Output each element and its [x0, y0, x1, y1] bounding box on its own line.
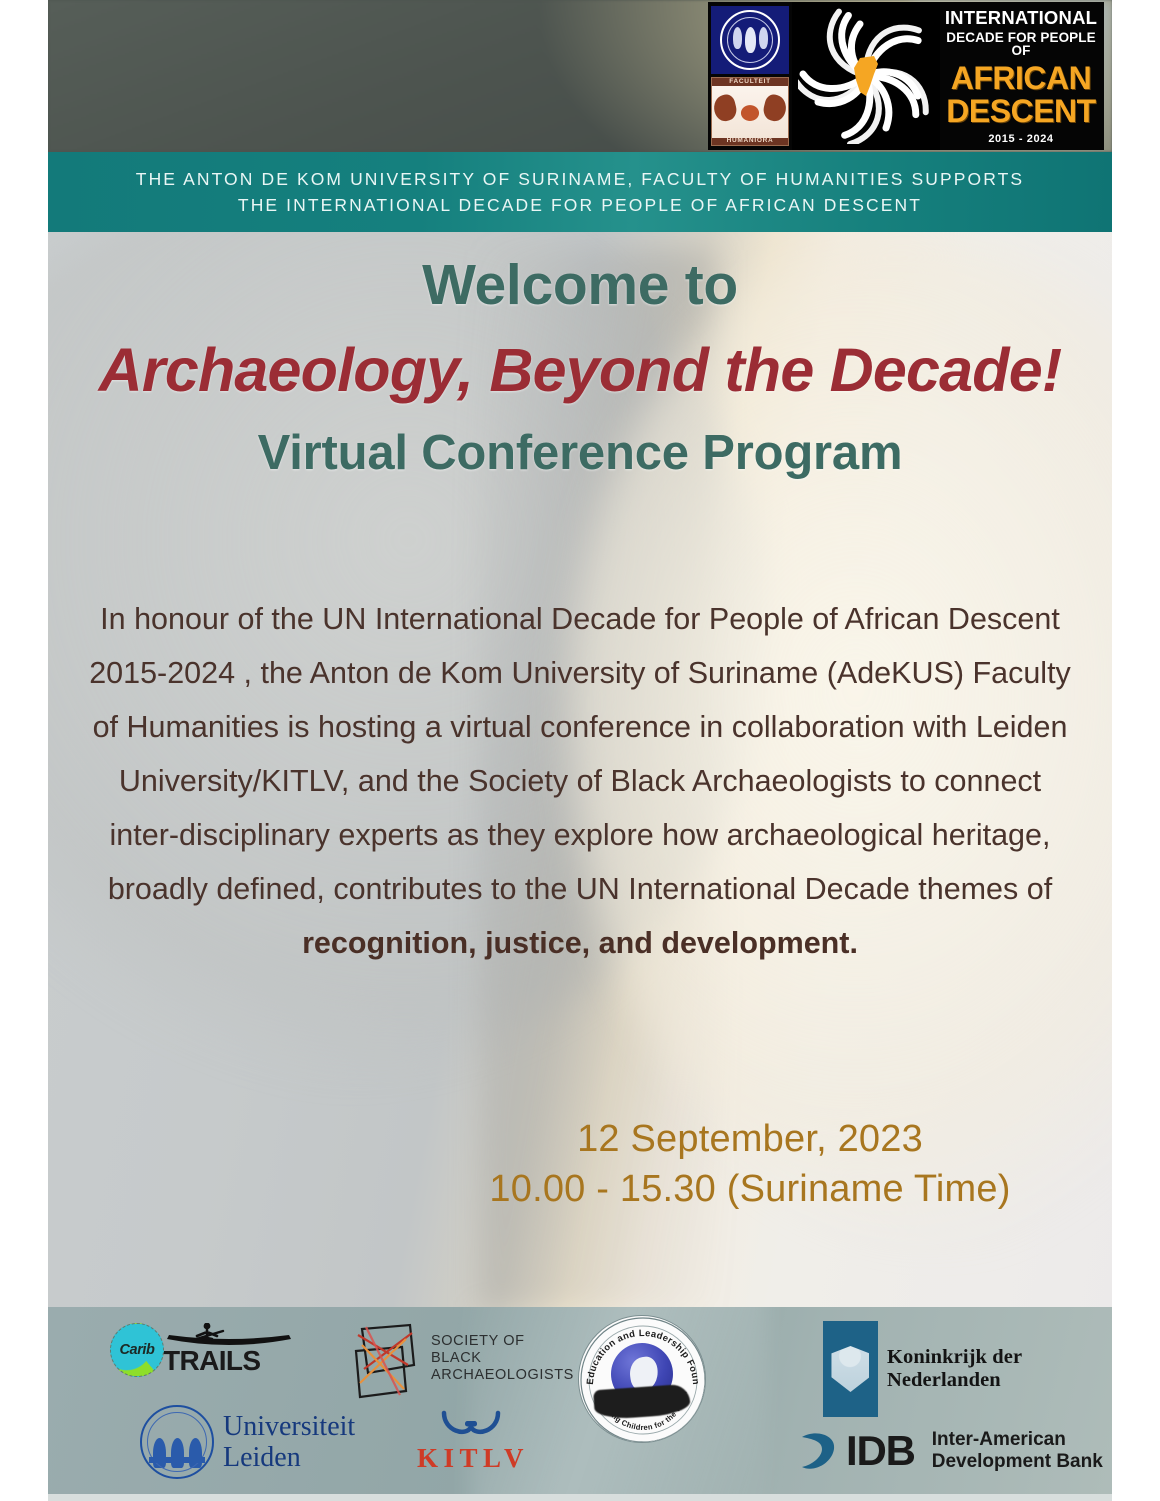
leiden-wordmark: Universiteit Leiden [223, 1411, 355, 1474]
decade-logo-text: INTERNATIONAL DECADE FOR PEOPLE OF AFRIC… [940, 2, 1104, 150]
society-black-archaeologists-icon [348, 1321, 422, 1403]
headline-block: Welcome to Archaeology, Beyond the Decad… [48, 256, 1112, 479]
university-seal-icon [711, 6, 789, 74]
event-datetime-block: 12 September, 2023 10.00 - 15.30 (Surina… [420, 1114, 1080, 1214]
conference-title: Archaeology, Beyond the Decade! [48, 338, 1112, 402]
partner-logo-band: Carib TRAILS [48, 1307, 1112, 1501]
dutch-government-crest-icon [823, 1321, 878, 1417]
decade-line-3: AFRICAN [951, 62, 1091, 94]
partner-logo-idb: IDB Inter-American Development Bank [796, 1427, 1103, 1475]
caribtrails-canoe-icon [163, 1323, 295, 1349]
kitlv-label: KITLV [417, 1443, 529, 1474]
event-time: 10.00 - 15.30 (Suriname Time) [420, 1164, 1080, 1214]
idb-line-2: Development Bank [932, 1451, 1103, 1473]
decade-line-1: INTERNATIONAL [945, 9, 1097, 28]
idb-abbreviation: IDB [846, 1427, 915, 1475]
event-date: 12 September, 2023 [420, 1114, 1080, 1164]
faculty-humaniora-logo-icon: FACULTEIT HUMANIORA [711, 77, 789, 146]
koninkrijk-label: Koninkrijk der Nederlanden [887, 1346, 1112, 1392]
intro-paragraph-lead: In honour of the UN International Decade… [89, 602, 1071, 906]
support-statement-line-1: THE ANTON DE KOM UNIVERSITY OF SURINAME,… [136, 169, 1024, 190]
society-black-archaeologists-wordmark: SOCIETY OF BLACK ARCHAEOLOGISTS [431, 1321, 574, 1384]
support-statement-banner: THE ANTON DE KOM UNIVERSITY OF SURINAME,… [48, 152, 1112, 232]
decade-line-5-years: 2015 - 2024 [988, 134, 1053, 145]
african-descent-spiral-icon [792, 2, 940, 150]
sba-line-2: BLACK [431, 1350, 574, 1367]
leiden-keys-icon [153, 1438, 202, 1468]
seal-figures [733, 27, 768, 53]
youth-foundation-seal-icon: Youth Education and Leadership Foundatio… [578, 1315, 706, 1443]
idb-line-1: Inter-American [932, 1429, 1103, 1451]
leiden-seal-bar [149, 1457, 205, 1463]
kitlv-symbol-icon [438, 1407, 504, 1441]
partner-logo-koninkrijk-der-nederlanden: Koninkrijk der Nederlanden [823, 1321, 1112, 1417]
leiden-seal-icon [140, 1405, 214, 1479]
caribtrails-globe-icon: Carib [110, 1323, 164, 1377]
spiral-graphic [798, 8, 934, 144]
idb-wordmark: Inter-American Development Bank [932, 1429, 1103, 1473]
intro-paragraph: In honour of the UN International Decade… [88, 592, 1072, 970]
leiden-line-2: Leiden [223, 1442, 355, 1473]
caribtrails-wordmark: TRAILS [163, 1323, 295, 1377]
caribtrails-label: TRAILS [163, 1345, 295, 1377]
faculty-logo-artwork [712, 86, 788, 138]
seal-ring [720, 10, 780, 70]
leiden-line-1: Universiteit [223, 1411, 355, 1442]
intro-paragraph-emphasis: recognition, justice, and development. [302, 926, 858, 960]
decade-line-2: DECADE FOR PEOPLE OF [944, 31, 1098, 58]
partner-logo-caribtrails: Carib TRAILS [110, 1323, 295, 1377]
dutch-crest-shield [831, 1346, 869, 1392]
partner-logo-kitlv: KITLV [413, 1407, 529, 1474]
sba-line-3: ARCHAEOLOGISTS [431, 1367, 574, 1384]
conference-poster: FACULTEIT HUMANIORA [0, 0, 1160, 1501]
faculty-logo-bottom-label: HUMANIORA [727, 138, 774, 145]
decade-logo-banner: FACULTEIT HUMANIORA [708, 2, 1104, 150]
support-statement-line-2: THE INTERNATIONAL DECADE FOR PEOPLE OF A… [238, 195, 922, 216]
partner-logo-universiteit-leiden: Universiteit Leiden [140, 1405, 355, 1479]
footer-baseline-rule [48, 1494, 1112, 1501]
partner-logo-youth-education-leadership-foundation: Youth Education and Leadership Foundatio… [578, 1315, 706, 1443]
conference-subtitle: Virtual Conference Program [48, 428, 1112, 479]
idb-symbol-icon [796, 1427, 840, 1475]
sba-line-1: SOCIETY OF [431, 1333, 574, 1350]
caribtrails-globe-label: Carib [119, 1342, 154, 1358]
welcome-heading: Welcome to [48, 256, 1112, 316]
adekus-logo-stack: FACULTEIT HUMANIORA [708, 2, 792, 150]
partner-logo-society-black-archaeologists: SOCIETY OF BLACK ARCHAEOLOGISTS [348, 1321, 574, 1403]
decade-line-4: DESCENT [946, 95, 1095, 127]
